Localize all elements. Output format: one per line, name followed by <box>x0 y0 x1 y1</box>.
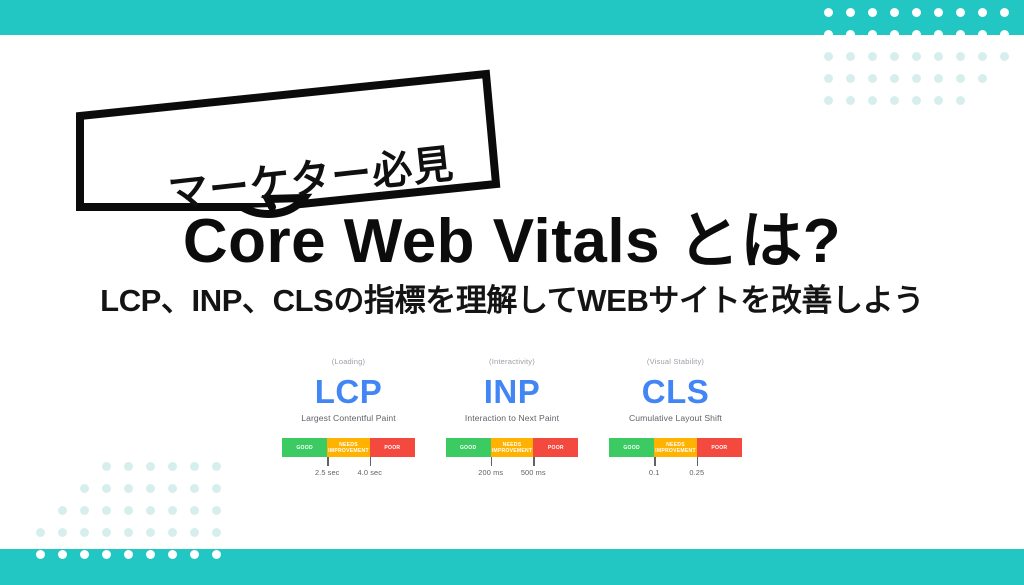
decor-dot <box>58 528 67 537</box>
decor-dot <box>912 74 921 83</box>
decor-dot <box>146 550 155 559</box>
decor-dot <box>146 484 155 493</box>
decor-dot <box>978 8 987 17</box>
decor-dot <box>934 30 943 39</box>
metric-kicker: (Loading) <box>282 358 415 366</box>
bar-segment-good: GOOD <box>609 438 654 457</box>
metric-threshold-bar: GOODNEEDS IMPROVEMENTPOOR <box>609 438 742 457</box>
decor-dot <box>868 74 877 83</box>
decor-dot <box>912 30 921 39</box>
bar-segment-needs-improvement: NEEDS IMPROVEMENT <box>327 438 370 457</box>
decor-dot <box>824 8 833 17</box>
decor-dot <box>102 550 111 559</box>
threshold-tick <box>370 457 371 466</box>
decor-dot <box>846 74 855 83</box>
decor-dot <box>868 8 877 17</box>
decor-dot <box>824 96 833 105</box>
metric-threshold-bar: GOODNEEDS IMPROVEMENTPOOR <box>282 438 415 457</box>
metric-acronym: LCP <box>282 375 415 408</box>
threshold-labels: 200 ms500 ms <box>446 467 579 479</box>
decor-dot <box>934 74 943 83</box>
decor-dot <box>890 96 899 105</box>
decor-dot <box>212 528 221 537</box>
decor-dot <box>58 550 67 559</box>
metric-full-name: Largest Contentful Paint <box>282 414 415 423</box>
bar-segment-poor: POOR <box>370 438 415 457</box>
threshold-labels: 2.5 sec4.0 sec <box>282 467 415 479</box>
decor-dot <box>36 550 45 559</box>
bar-segment-good: GOOD <box>282 438 327 457</box>
decor-dot <box>978 74 987 83</box>
decor-dot <box>124 506 133 515</box>
decor-dot <box>978 52 987 61</box>
decor-dot <box>124 550 133 559</box>
decor-dot <box>978 30 987 39</box>
decor-dot <box>956 96 965 105</box>
core-web-vitals-cards: (Loading)LCPLargest Contentful PaintGOOD… <box>282 358 742 478</box>
decor-dot <box>212 484 221 493</box>
decor-dot <box>934 52 943 61</box>
decor-dot <box>890 30 899 39</box>
decor-dot <box>1000 30 1009 39</box>
decor-dot <box>868 30 877 39</box>
decor-dot <box>956 30 965 39</box>
metric-full-name: Interaction to Next Paint <box>446 414 579 423</box>
decor-dot <box>934 96 943 105</box>
decor-dot <box>956 8 965 17</box>
decor-dot <box>124 484 133 493</box>
decor-dot <box>934 8 943 17</box>
decor-dot <box>124 528 133 537</box>
decor-dot <box>36 528 45 537</box>
decor-dot <box>868 96 877 105</box>
decor-dot <box>80 484 89 493</box>
decor-dot <box>890 74 899 83</box>
decor-dot <box>146 506 155 515</box>
threshold-tick <box>654 457 655 466</box>
decor-dot <box>80 528 89 537</box>
metric-acronym: CLS <box>609 375 742 408</box>
decor-dot <box>80 506 89 515</box>
decor-dot <box>824 74 833 83</box>
decor-dot <box>846 52 855 61</box>
decor-dot <box>190 484 199 493</box>
decor-dot <box>168 550 177 559</box>
metric-acronym: INP <box>446 375 579 408</box>
decor-dot <box>212 506 221 515</box>
metric-full-name: Cumulative Layout Shift <box>609 414 742 423</box>
dot-grid-bottom-left <box>36 462 234 572</box>
threshold-value: 4.0 sec <box>358 468 383 477</box>
page-subtitle: LCP、INP、CLSの指標を理解してWEBサイトを改善しよう <box>0 284 1024 318</box>
decor-dot <box>168 484 177 493</box>
decor-dot <box>190 506 199 515</box>
metric-card-inp: (Interactivity)INPInteraction to Next Pa… <box>446 358 579 478</box>
threshold-tick <box>697 457 698 466</box>
threshold-value: 200 ms <box>478 468 503 477</box>
decor-dot <box>168 506 177 515</box>
decor-dot <box>912 96 921 105</box>
decor-dot <box>846 8 855 17</box>
bar-segment-needs-improvement: NEEDS IMPROVEMENT <box>654 438 697 457</box>
bar-segment-good: GOOD <box>446 438 491 457</box>
decor-dot <box>102 462 111 471</box>
decor-dot <box>102 484 111 493</box>
dot-grid-top-right <box>824 8 1022 118</box>
decor-dot <box>146 462 155 471</box>
threshold-ticks <box>446 457 579 467</box>
decor-dot <box>912 52 921 61</box>
decor-dot <box>846 30 855 39</box>
metric-card-lcp: (Loading)LCPLargest Contentful PaintGOOD… <box>282 358 415 478</box>
decor-dot <box>190 528 199 537</box>
decor-dot <box>824 30 833 39</box>
decor-dot <box>890 52 899 61</box>
decor-dot <box>102 528 111 537</box>
metric-threshold-bar: GOODNEEDS IMPROVEMENTPOOR <box>446 438 579 457</box>
threshold-tick <box>533 457 534 466</box>
decor-dot <box>212 462 221 471</box>
bar-segment-poor: POOR <box>533 438 578 457</box>
threshold-tick <box>491 457 492 466</box>
threshold-value: 0.25 <box>689 468 704 477</box>
metric-kicker: (Interactivity) <box>446 358 579 366</box>
decor-dot <box>868 52 877 61</box>
decor-dot <box>80 550 89 559</box>
bar-segment-needs-improvement: NEEDS IMPROVEMENT <box>491 438 534 457</box>
threshold-value: 500 ms <box>521 468 546 477</box>
threshold-tick <box>327 457 328 466</box>
decor-dot <box>846 96 855 105</box>
decor-dot <box>912 8 921 17</box>
decor-dot <box>168 528 177 537</box>
decor-dot <box>212 550 221 559</box>
slide-canvas: マーケター必見 Core Web Vitals とは? LCP、INP、CLSの… <box>0 0 1024 585</box>
decor-dot <box>956 74 965 83</box>
decor-dot <box>124 462 133 471</box>
threshold-labels: 0.10.25 <box>609 467 742 479</box>
threshold-ticks <box>282 457 415 467</box>
threshold-value: 2.5 sec <box>315 468 340 477</box>
decor-dot <box>146 528 155 537</box>
decor-dot <box>956 52 965 61</box>
decor-dot <box>1000 8 1009 17</box>
bar-segment-poor: POOR <box>697 438 742 457</box>
decor-dot <box>190 462 199 471</box>
decor-dot <box>58 506 67 515</box>
badge-speech-bubble: マーケター必見 <box>72 66 502 211</box>
threshold-ticks <box>609 457 742 467</box>
decor-dot <box>1000 52 1009 61</box>
page-title: Core Web Vitals とは? <box>0 211 1024 273</box>
decor-dot <box>890 8 899 17</box>
decor-dot <box>190 550 199 559</box>
metric-kicker: (Visual Stability) <box>609 358 742 366</box>
decor-dot <box>168 462 177 471</box>
decor-dot <box>824 52 833 61</box>
threshold-value: 0.1 <box>649 468 660 477</box>
metric-card-cls: (Visual Stability)CLSCumulative Layout S… <box>609 358 742 478</box>
decor-dot <box>102 506 111 515</box>
